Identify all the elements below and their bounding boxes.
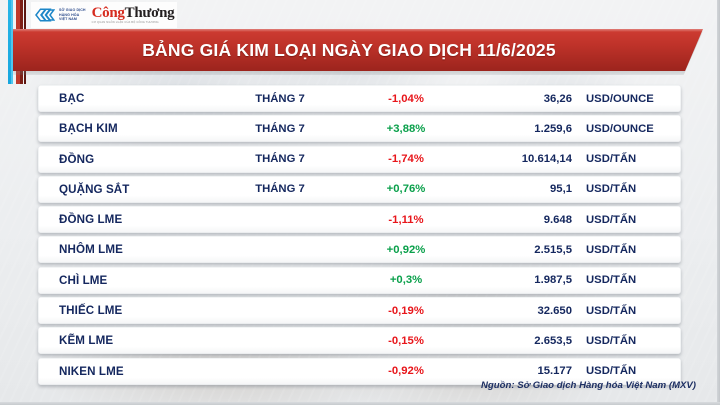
row-commodity-name: ĐỒNG bbox=[38, 153, 220, 166]
exchange-name-line3: VIỆT NAM bbox=[59, 17, 86, 21]
title-banner: BẢNG GIÁ KIM LOẠI NGÀY GIAO DỊCH 11/6/20… bbox=[13, 29, 703, 73]
row-unit: USD/TẤN bbox=[572, 305, 681, 317]
metal-price-table: BẠCTHÁNG 7-1,04%36,26USD/OUNCEBẠCH KIMTH… bbox=[38, 85, 681, 388]
row-price: 2.653,5 bbox=[472, 335, 572, 347]
publication-wordmark: CôngThương CƠ QUAN NGÔN LUẬN CỦA BỘ CÔNG… bbox=[92, 6, 175, 25]
row-unit: USD/OUNCE bbox=[572, 123, 681, 135]
row-contract-month: THÁNG 7 bbox=[220, 153, 340, 165]
source-note: Nguồn: Sở Giao dịch Hàng hóa Việt Nam (M… bbox=[481, 380, 696, 391]
publication-title: CôngThương bbox=[92, 6, 175, 21]
table-row: BẠCH KIMTHÁNG 7+3,88%1.259,6USD/OUNCE bbox=[38, 115, 681, 142]
table-row: BẠCTHÁNG 7-1,04%36,26USD/OUNCE bbox=[38, 85, 681, 112]
price-board-infographic: SỞ GIAO DỊCH HÀNG HÓA VIỆT NAM CôngThươn… bbox=[0, 0, 720, 405]
row-change-percent: -1,74% bbox=[340, 153, 472, 165]
row-change-percent: +0,76% bbox=[340, 183, 472, 195]
row-commodity-name: NIKEN LME bbox=[38, 365, 220, 378]
row-price: 1.987,5 bbox=[472, 274, 572, 286]
row-price: 9.648 bbox=[472, 214, 572, 226]
exchange-name: SỞ GIAO DỊCH HÀNG HÓA VIỆT NAM bbox=[59, 8, 86, 21]
row-price: 15.177 bbox=[472, 365, 572, 377]
row-change-percent: -1,11% bbox=[340, 214, 472, 226]
mxv-logo-icon bbox=[35, 6, 55, 24]
row-commodity-name: BẠC bbox=[38, 92, 220, 105]
row-contract-month: THÁNG 7 bbox=[220, 93, 340, 105]
row-change-percent: +3,88% bbox=[340, 123, 472, 135]
row-unit: USD/TẤN bbox=[572, 214, 681, 226]
row-contract-month: THÁNG 7 bbox=[220, 183, 340, 195]
row-unit: USD/TẤN bbox=[572, 274, 681, 286]
table-row: ĐỒNG LME-1,11%9.648USD/TẤN bbox=[38, 206, 681, 233]
row-commodity-name: ĐỒNG LME bbox=[38, 213, 220, 226]
row-change-percent: +0,3% bbox=[340, 274, 472, 286]
row-contract-month: THÁNG 7 bbox=[220, 123, 340, 135]
row-price: 10.614,14 bbox=[472, 153, 572, 165]
table-row: ĐỒNGTHÁNG 7-1,74%10.614,14USD/TẤN bbox=[38, 146, 681, 173]
table-row: KẼM LME-0,15%2.653,5USD/TẤN bbox=[38, 327, 681, 354]
row-unit: USD/TẤN bbox=[572, 335, 681, 347]
page-title: BẢNG GIÁ KIM LOẠI NGÀY GIAO DỊCH 11/6/20… bbox=[142, 40, 574, 61]
row-change-percent: +0,92% bbox=[340, 244, 472, 256]
row-commodity-name: BẠCH KIM bbox=[38, 122, 220, 135]
row-price: 2.515,5 bbox=[472, 244, 572, 256]
table-row: THIẾC LME-0,19%32.650USD/TẤN bbox=[38, 297, 681, 324]
publication-title-part1: Công bbox=[92, 5, 125, 21]
row-change-percent: -0,19% bbox=[340, 305, 472, 317]
row-price: 1.259,6 bbox=[472, 123, 572, 135]
row-change-percent: -0,92% bbox=[340, 365, 472, 377]
table-row: NHÔM LME+0,92%2.515,5USD/TẤN bbox=[38, 236, 681, 263]
row-commodity-name: THIẾC LME bbox=[38, 304, 220, 317]
row-price: 95,1 bbox=[472, 183, 572, 195]
row-unit: USD/TẤN bbox=[572, 365, 681, 377]
row-unit: USD/OUNCE bbox=[572, 93, 681, 105]
row-change-percent: -0,15% bbox=[340, 335, 472, 347]
row-commodity-name: CHÌ LME bbox=[38, 274, 220, 287]
table-row: CHÌ LME+0,3%1.987,5USD/TẤN bbox=[38, 267, 681, 294]
publication-title-part2: Thương bbox=[125, 5, 175, 21]
title-banner-body: BẢNG GIÁ KIM LOẠI NGÀY GIAO DỊCH 11/6/20… bbox=[13, 29, 703, 71]
row-unit: USD/TẤN bbox=[572, 153, 681, 165]
table-row: QUẶNG SẮTTHÁNG 7+0,76%95,1USD/TẤN bbox=[38, 176, 681, 203]
row-price: 36,26 bbox=[472, 93, 572, 105]
row-change-percent: -1,04% bbox=[340, 93, 472, 105]
publication-subtitle: CƠ QUAN NGÔN LUẬN CỦA BỘ CÔNG THƯƠNG bbox=[92, 22, 175, 25]
row-unit: USD/TẤN bbox=[572, 183, 681, 195]
row-price: 32.650 bbox=[472, 305, 572, 317]
row-commodity-name: NHÔM LME bbox=[38, 243, 220, 256]
row-commodity-name: KẼM LME bbox=[38, 334, 220, 347]
row-unit: USD/TẤN bbox=[572, 244, 681, 256]
row-commodity-name: QUẶNG SẮT bbox=[38, 183, 220, 196]
logo-plate: SỞ GIAO DỊCH HÀNG HÓA VIỆT NAM CôngThươn… bbox=[31, 2, 177, 28]
